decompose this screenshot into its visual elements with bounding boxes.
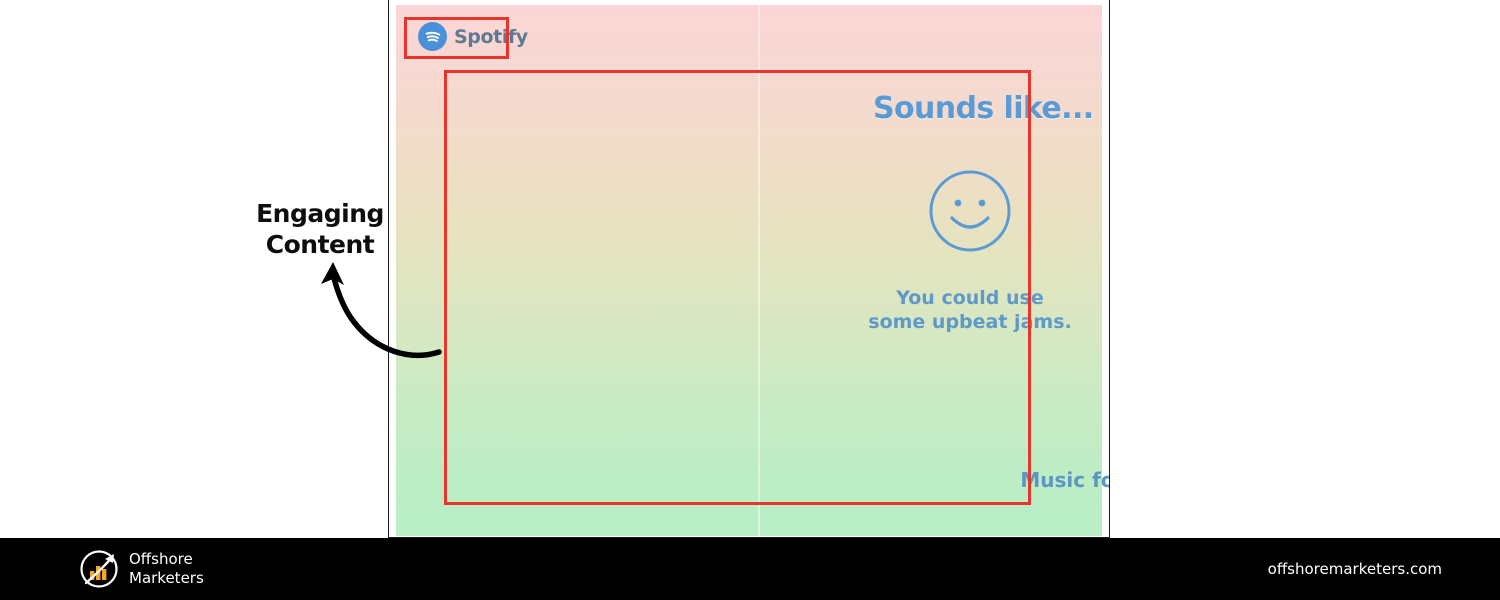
callout-label-line2: Content — [266, 230, 374, 259]
spotify-wordmark: Spotify — [454, 26, 528, 48]
canvas-seam — [758, 5, 760, 536]
ad-headline: Sounds like... — [873, 91, 1094, 126]
callout-label-line1: Engaging — [256, 199, 384, 228]
smiley-face-icon — [927, 168, 1013, 254]
ad-subcopy-line2: some upbeat jams. — [868, 311, 1071, 333]
footer-url[interactable]: offshoremarketers.com — [1268, 560, 1442, 578]
footer-logo-line1: Offshore — [129, 550, 193, 568]
offshore-marketers-logo-icon — [78, 548, 120, 590]
spotify-ad-panel: Spotify Sounds like... You could use som… — [388, 0, 1110, 538]
curved-arrow-icon — [315, 258, 445, 363]
ad-subcopy: You could use some upbeat jams. — [851, 286, 1089, 334]
ad-subcopy-line1: You could use — [896, 287, 1044, 309]
offshore-marketers-wordmark: Offshore Marketers — [129, 550, 204, 588]
ad-tagline: Music for every mood. — [916, 468, 1110, 492]
screenshot-root: Spotify Sounds like... You could use som… — [0, 0, 1500, 600]
spotify-brand-lockup[interactable]: Spotify — [414, 19, 536, 54]
callout-label: Engaging Content — [222, 198, 418, 260]
offshore-marketers-logo[interactable]: Offshore Marketers — [78, 548, 204, 590]
ad-canvas: Spotify Sounds like... You could use som… — [396, 5, 1102, 536]
footer-logo-line2: Marketers — [129, 569, 204, 587]
page-footer: Offshore Marketers offshoremarketers.com — [0, 538, 1500, 600]
spotify-icon — [418, 22, 447, 51]
